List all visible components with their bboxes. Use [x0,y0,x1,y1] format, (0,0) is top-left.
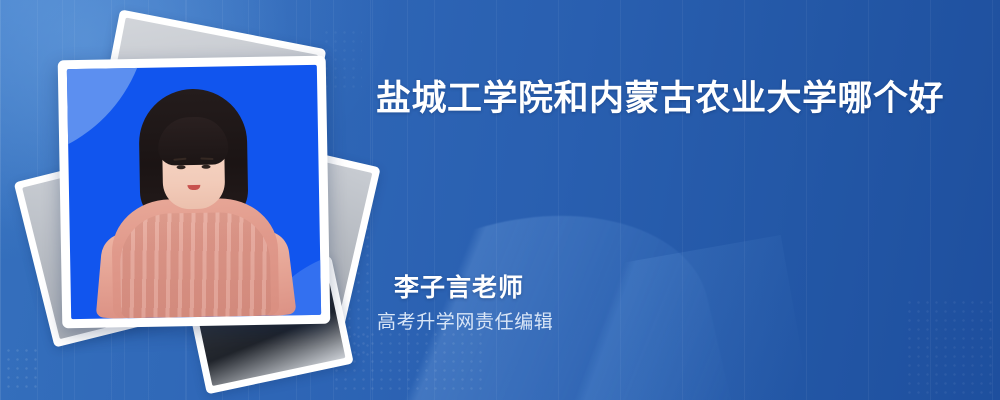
author-photo [67,65,321,319]
author-role: 高考升学网责任编辑 [376,308,796,338]
photo-card-stack [46,34,346,354]
portrait-dress [111,198,279,319]
author-byline: 李子言老师 高考升学网责任编辑 [376,272,796,338]
author-photo-card [58,56,331,329]
author-name: 李子言老师 [376,272,796,304]
page-title: 盐城工学院和内蒙古农业大学哪个好 [376,74,956,124]
dot-grid-decoration [4,346,40,388]
portrait-illustration [67,85,321,319]
article-cover-banner: 盐城工学院和内蒙古农业大学哪个好 李子言老师 高考升学网责任编辑 [0,0,1000,400]
cover-text-content: 盐城工学院和内蒙古农业大学哪个好 李子言老师 高考升学网责任编辑 [376,0,966,400]
